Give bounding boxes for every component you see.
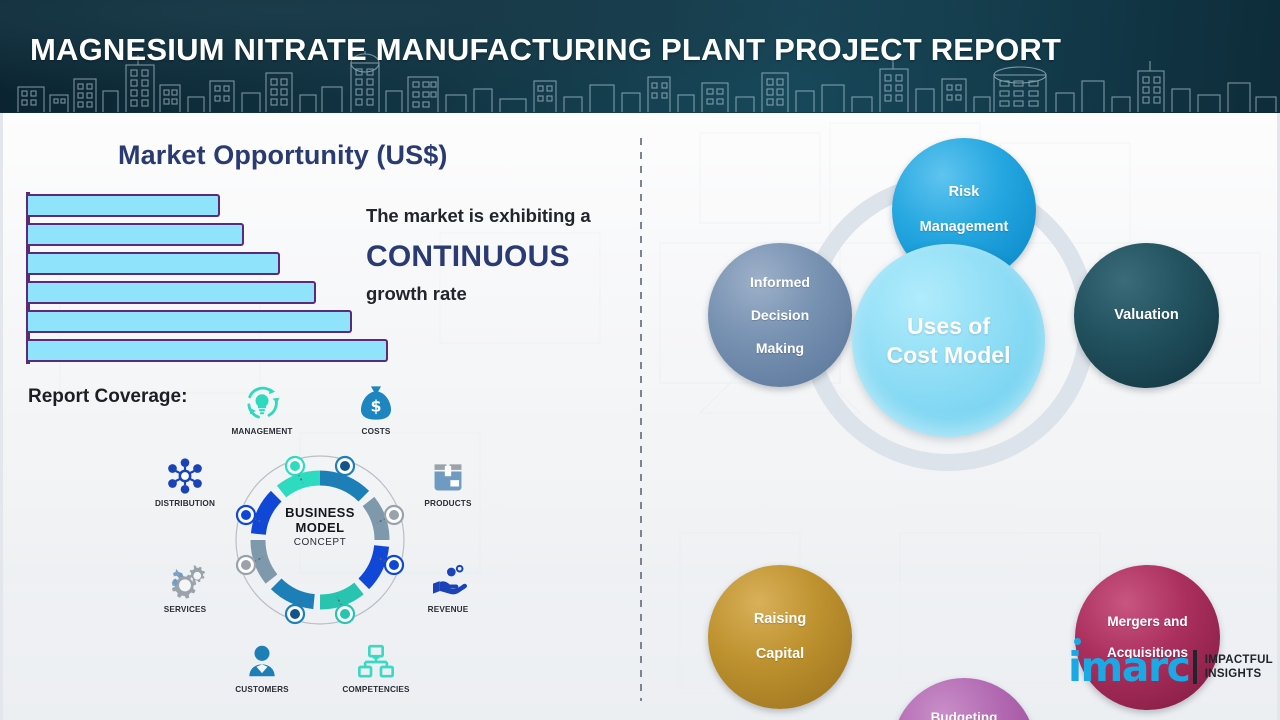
network-hub-icon <box>139 450 231 496</box>
market-opportunity-title: Market Opportunity (US$) <box>118 140 447 171</box>
logo-divider-bar <box>1193 650 1196 684</box>
bubble-line1: Informed <box>744 274 816 291</box>
page-header: MAGNESIUM NITRATE MANUFACTURING PLANT PR… <box>0 0 1280 113</box>
hand-coins-icon <box>402 556 494 602</box>
coverage-item-customers[interactable]: CUSTOMERS <box>216 636 308 694</box>
imarc-word-text: imarc <box>1068 643 1189 691</box>
bubble-raising-capital[interactable]: Raising Capital <box>708 565 852 709</box>
gears-icon <box>139 556 231 602</box>
coverage-item-label: REVENUE <box>402 605 494 614</box>
chart-bar <box>28 339 388 362</box>
coverage-item-label: PRODUCTS <box>402 499 494 508</box>
user-person-icon <box>216 636 308 682</box>
bubble-line2: Decision <box>744 307 816 324</box>
tagline-line2: INSIGHTS <box>1205 667 1273 681</box>
bubble-budgeting-forecasting[interactable]: Budgeting and Forecasting <box>892 678 1036 720</box>
imarc-wordmark: imarc <box>1068 647 1189 688</box>
business-model-wheel: BUSINESS MODEL CONCEPT <box>225 445 415 635</box>
market-text-line3: growth rate <box>366 283 467 305</box>
center-line2: Cost Model <box>887 342 1011 368</box>
bubble-line3: Making <box>744 340 816 357</box>
center-line1: Uses of <box>907 313 990 339</box>
org-chart-icon <box>330 636 422 682</box>
panel-divider <box>640 138 642 701</box>
imarc-dot-icon <box>1074 638 1081 645</box>
coverage-item-services[interactable]: SERVICES <box>139 556 231 614</box>
open-box-icon <box>402 450 494 496</box>
coverage-item-label: MANAGEMENT <box>216 427 308 436</box>
page-title: MAGNESIUM NITRATE MANUFACTURING PLANT PR… <box>30 32 1061 68</box>
bubble-informed-decision-making[interactable]: Informed Decision Making <box>708 243 852 387</box>
bubble-valuation[interactable]: Valuation <box>1074 243 1219 388</box>
coverage-item-label: SERVICES <box>139 605 231 614</box>
coverage-item-competencies[interactable]: COMPETENCIES <box>330 636 422 694</box>
imarc-tagline: IMPACTFUL INSIGHTS <box>1205 653 1273 681</box>
coverage-item-distribution[interactable]: DISTRIBUTION <box>139 450 231 508</box>
imarc-logo[interactable]: imarc IMPACTFUL INSIGHTS <box>1068 637 1273 697</box>
business-model-diagram: MANAGEMENT $ COSTS <box>140 378 510 708</box>
coverage-item-revenue[interactable]: REVENUE <box>402 556 494 614</box>
uses-of-cost-model-diagram: Risk Management Valuation Mergers and Ac… <box>660 113 1280 720</box>
chart-bar <box>28 281 316 304</box>
bubble-line1: Raising <box>748 611 812 628</box>
coverage-item-label: COSTS <box>330 427 422 436</box>
bubble-line1: Risk <box>914 184 1015 201</box>
tagline-line1: IMPACTFUL <box>1205 653 1273 667</box>
bubble-line2: Management <box>914 219 1015 236</box>
market-text-line1: The market is exhibiting a <box>366 205 591 227</box>
stage-left-edge <box>0 113 3 720</box>
svg-text:$: $ <box>370 396 381 415</box>
bubble-line1: Budgeting <box>920 710 1009 720</box>
bubble-line1: Valuation <box>1108 307 1184 324</box>
chart-bar <box>28 310 352 333</box>
coverage-item-label: DISTRIBUTION <box>139 499 231 508</box>
chart-bar <box>28 223 244 246</box>
chart-bar <box>28 252 280 275</box>
bubble-line1: Mergers and <box>1101 614 1194 630</box>
coverage-item-products[interactable]: PRODUCTS <box>402 450 494 508</box>
coverage-item-label: CUSTOMERS <box>216 685 308 694</box>
bubble-line2: Capital <box>748 646 812 663</box>
money-bag-icon: $ <box>330 378 422 424</box>
coverage-item-costs[interactable]: $ COSTS <box>330 378 422 436</box>
coverage-item-label: COMPETENCIES <box>330 685 422 694</box>
bubble-center-uses-of-cost-model[interactable]: Uses of Cost Model <box>852 244 1045 437</box>
chart-bar <box>28 194 220 217</box>
coverage-item-management[interactable]: MANAGEMENT <box>216 378 308 436</box>
market-text-continuous: CONTINUOUS <box>366 240 570 274</box>
lightbulb-recycle-icon <box>216 378 308 424</box>
